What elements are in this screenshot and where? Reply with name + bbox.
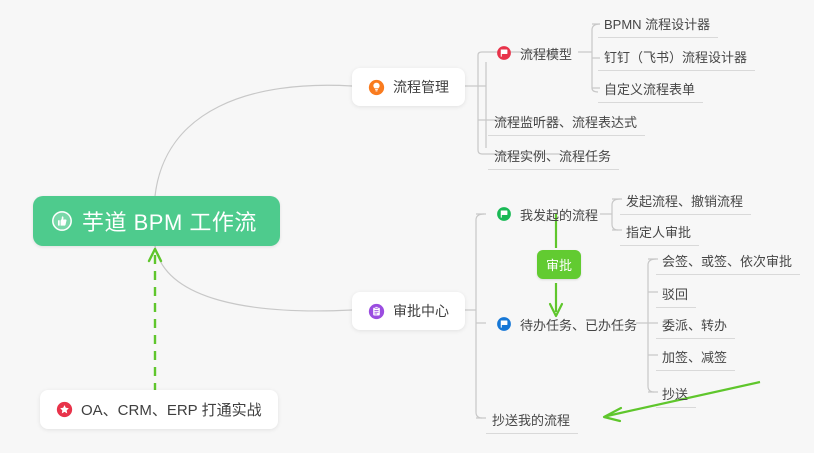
branch-label: 流程管理	[393, 77, 449, 97]
node-label: OA、CRM、ERP 打通实战	[81, 399, 262, 420]
topic-label: 流程实例、流程任务	[494, 146, 611, 165]
branch-approval-center[interactable]: 审批中心	[352, 292, 465, 330]
topic-label: 抄送我的流程	[492, 410, 570, 429]
clipboard-icon	[368, 303, 385, 320]
topic-custom-form[interactable]: 自定义流程表单	[598, 76, 703, 103]
root-node[interactable]: 芋道 BPM 工作流	[33, 196, 280, 246]
topic-bpmn-designer[interactable]: BPMN 流程设计器	[598, 11, 718, 38]
topic-label: 加签、减签	[662, 347, 727, 366]
flag-icon	[496, 45, 513, 62]
lightbulb-icon	[368, 79, 385, 96]
branch-process-management[interactable]: 流程管理	[352, 68, 465, 106]
approval-badge[interactable]: 审批	[537, 250, 581, 279]
topic-start-cancel-process[interactable]: 发起流程、撤销流程	[620, 188, 751, 215]
topic-delegate-transfer[interactable]: 委派、转办	[656, 312, 735, 339]
topic-instance-task[interactable]: 流程实例、流程任务	[488, 143, 619, 170]
topic-label: 流程模型	[520, 44, 572, 63]
topic-label: 我发起的流程	[520, 205, 598, 224]
topic-assignee-approval[interactable]: 指定人审批	[620, 219, 699, 246]
topic-todo-done-tasks[interactable]: 待办任务、已办任务	[490, 312, 645, 338]
arrow-integration-to-root	[149, 249, 161, 392]
branch-label: 审批中心	[393, 301, 449, 321]
topic-label: 驳回	[662, 284, 688, 303]
topic-process-model[interactable]: 流程模型	[490, 41, 580, 67]
topic-cc[interactable]: 抄送	[656, 381, 696, 408]
topic-cc-to-me-process[interactable]: 抄送我的流程	[486, 407, 578, 434]
topic-label: 发起流程、撤销流程	[626, 191, 743, 210]
topic-add-remove-sign[interactable]: 加签、减签	[656, 344, 735, 371]
mindmap-canvas: 芋道 BPM 工作流 流程管理 流程模型 BPMN 流程设计器 钉钉（飞书）流程…	[0, 0, 814, 453]
topic-my-initiated-process[interactable]: 我发起的流程	[490, 202, 606, 228]
topic-dingtalk-designer[interactable]: 钉钉（飞书）流程设计器	[598, 44, 755, 71]
badge-label: 审批	[546, 258, 572, 273]
topic-label: 委派、转办	[662, 315, 727, 334]
topic-label: BPMN 流程设计器	[604, 14, 710, 33]
link-root-to-process-management	[155, 85, 352, 196]
topic-label: 指定人审批	[626, 222, 691, 241]
star-icon	[56, 401, 73, 418]
topic-label: 自定义流程表单	[604, 79, 695, 98]
topic-label: 会签、或签、依次审批	[662, 251, 792, 270]
topic-label: 钉钉（飞书）流程设计器	[604, 47, 747, 66]
node-integration-practice[interactable]: OA、CRM、ERP 打通实战	[40, 390, 278, 429]
topic-listener-expression[interactable]: 流程监听器、流程表达式	[488, 109, 645, 136]
topic-countersign[interactable]: 会签、或签、依次审批	[656, 248, 800, 275]
root-label: 芋道 BPM 工作流	[82, 205, 257, 237]
topic-label: 待办任务、已办任务	[520, 315, 637, 334]
thumbs-up-icon	[51, 210, 73, 232]
flag-icon	[496, 316, 513, 333]
topic-label: 抄送	[662, 384, 688, 403]
flag-icon	[496, 206, 513, 223]
topic-reject[interactable]: 驳回	[656, 281, 696, 308]
topic-label: 流程监听器、流程表达式	[494, 112, 637, 131]
